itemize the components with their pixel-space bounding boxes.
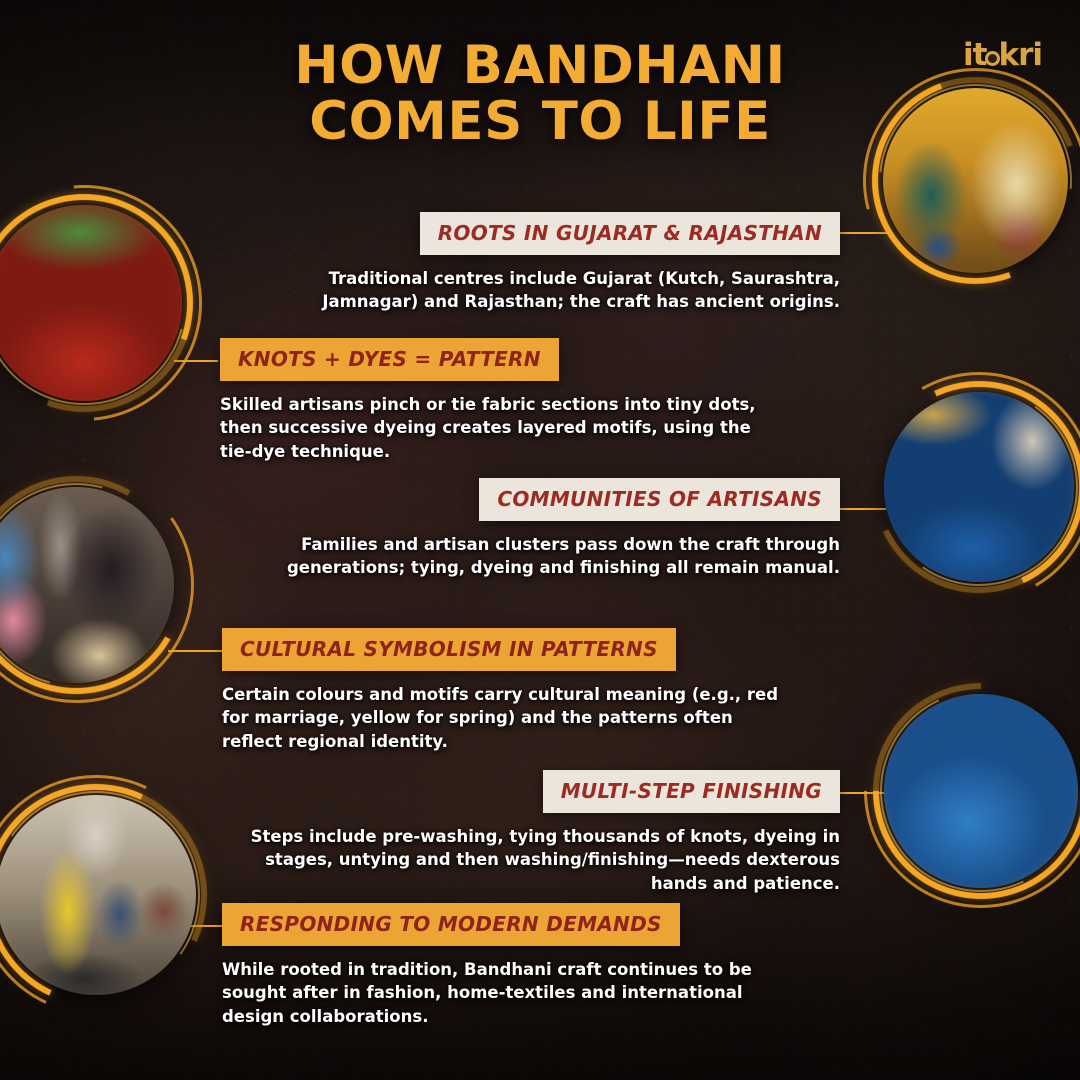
connector-line-finishing	[840, 792, 886, 794]
photo-scene	[0, 205, 182, 401]
photo-disc	[0, 795, 196, 995]
section-body-knots: Skilled artisans pinch or tie fabric sec…	[220, 393, 780, 463]
photo-artisan-women-courtyard	[0, 487, 174, 683]
section-knots: KNOTS + DYES = PATTERN Skilled artisans …	[220, 338, 780, 463]
photo-disc	[884, 694, 1078, 888]
photo-disc	[0, 487, 174, 683]
photo-scene	[884, 392, 1074, 582]
photo-disc	[884, 392, 1074, 582]
connector-line-communities	[838, 508, 886, 510]
photo-scene	[0, 487, 174, 683]
connector-line-symbolism	[168, 650, 222, 652]
section-heading-symbolism: CULTURAL SYMBOLISM IN PATTERNS	[222, 628, 676, 671]
photo-disc	[0, 205, 182, 401]
section-body-roots: Traditional centres include Gujarat (Kut…	[240, 267, 840, 314]
section-roots: ROOTS IN GUJARAT & RAJASTHAN Traditional…	[240, 212, 840, 314]
page-title-line-1: HOW BANDHANI	[0, 38, 1080, 94]
section-finishing: MULTI-STEP FINISHING Steps include pre-w…	[240, 770, 840, 895]
photo-scene	[0, 795, 196, 995]
section-heading-modern: RESPONDING TO MODERN DEMANDS	[222, 903, 680, 946]
section-body-modern: While rooted in tradition, Bandhani craf…	[222, 958, 792, 1028]
page-title-line-2: COMES TO LIFE	[0, 94, 1080, 150]
section-heading-communities: COMMUNITIES OF ARTISANS	[479, 478, 840, 521]
section-body-symbolism: Certain colours and motifs carry cultura…	[222, 683, 782, 753]
section-communities: COMMUNITIES OF ARTISANS Families and art…	[240, 478, 840, 580]
page-title: HOW BANDHANI COMES TO LIFE	[0, 38, 1080, 150]
section-body-finishing: Steps include pre-washing, tying thousan…	[240, 825, 840, 895]
photo-hands-tying-red-fabric	[0, 205, 182, 401]
section-heading-finishing: MULTI-STEP FINISHING	[543, 770, 840, 813]
section-heading-knots: KNOTS + DYES = PATTERN	[220, 338, 559, 381]
photo-scene	[884, 694, 1078, 888]
section-symbolism: CULTURAL SYMBOLISM IN PATTERNS Certain c…	[222, 628, 782, 753]
section-modern: RESPONDING TO MODERN DEMANDS While roote…	[222, 903, 792, 1028]
photo-dyer-blue-tub	[884, 392, 1074, 582]
photo-dyer-yellow-fabric	[0, 795, 196, 995]
section-body-communities: Families and artisan clusters pass down …	[240, 533, 840, 580]
brand-logo[interactable]: itkri	[963, 40, 1042, 71]
brand-logo-text-2: kri	[998, 37, 1042, 73]
photo-blue-dye-vat	[884, 694, 1078, 888]
section-heading-roots: ROOTS IN GUJARAT & RAJASTHAN	[420, 212, 840, 255]
brand-logo-text: it	[963, 37, 986, 73]
